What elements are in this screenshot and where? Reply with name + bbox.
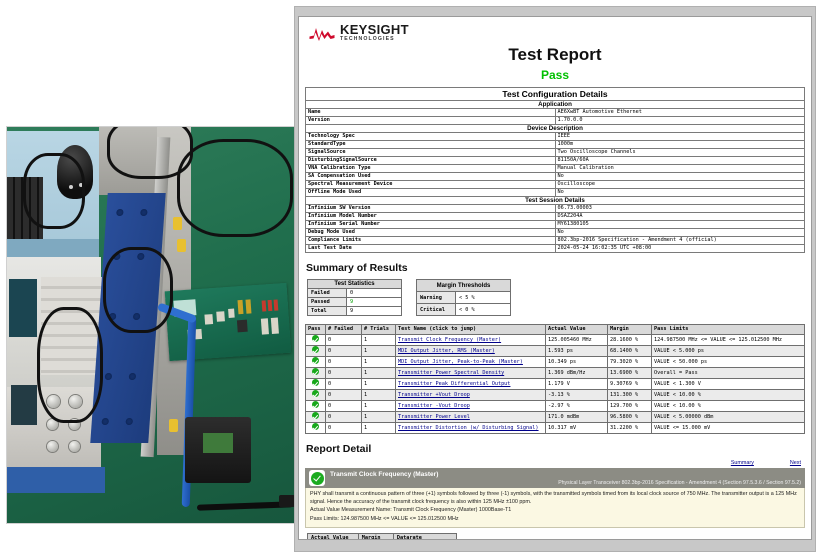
detail-spec-reference: Physical Layer Transceiver 802.3bp-2016 … — [330, 480, 801, 486]
table-row: 01Transmitter Distortion (w/ Disturbing … — [306, 423, 805, 434]
config-key: Name — [306, 109, 556, 117]
trials-count: 1 — [362, 368, 396, 379]
scope-knob-6 — [69, 441, 80, 452]
report-page: KEYSIGHT TECHNOLOGIES Test Report Pass T… — [298, 16, 812, 540]
margin-value: 68.1400 % — [608, 346, 652, 357]
detail-measurement-table: Actual ValueMarginDatarate125.005460 MHz… — [307, 533, 457, 540]
failed-count: 0 — [326, 379, 362, 390]
config-row: Technology SpecIEEE — [306, 133, 805, 141]
results-header-row: Pass# Failed# TrialsTest Name (click to … — [306, 325, 805, 335]
config-row: Infiniium SW Version06.73.00003 — [306, 205, 805, 213]
trials-count: 1 — [362, 412, 396, 423]
pass-icon — [306, 368, 326, 379]
results-column-header: Test Name (click to jump) — [396, 325, 546, 335]
trials-count: 1 — [362, 423, 396, 434]
table-row: 01Transmitter Peak Differential Output1.… — [306, 379, 805, 390]
config-key: SA Compensation Used — [306, 173, 556, 181]
table-row: 01Transmitter +Vout Droop-3.13 %131.300 … — [306, 390, 805, 401]
actual-value: 1.593 ps — [546, 346, 608, 357]
test-name-link[interactable]: Transmitter Power Level — [396, 412, 546, 423]
stats-tbody: Test Statistics Failed0Passed9Total9 — [308, 280, 402, 316]
pass-limits: VALUE < 50.000 ps — [652, 357, 805, 368]
threshold-label: Warning — [417, 292, 456, 304]
detail-test-name: Transmit Clock Frequency (Master) — [330, 471, 801, 478]
coax-cable-loop-4 — [103, 247, 173, 333]
config-value: 1.70.0.0 — [555, 117, 805, 125]
summary-heading: Summary of Results — [306, 262, 805, 274]
test-statistics-table: Test Statistics Failed0Passed9Total9 — [307, 279, 402, 316]
pass-limits: 124.987500 MHz <= VALUE <= 125.012500 MH… — [652, 335, 805, 346]
report-detail-heading: Report Detail — [306, 443, 805, 455]
config-value: IEEE — [555, 133, 805, 141]
keysight-logo: KEYSIGHT TECHNOLOGIES — [305, 17, 805, 42]
lab-bench-photo — [6, 126, 296, 524]
margin-value: 79.3020 % — [608, 357, 652, 368]
pass-limits: VALUE < 5.000 ps — [652, 346, 805, 357]
table-row: 01MDI Output Jitter, Peak-to-Peak (Maste… — [306, 357, 805, 368]
cable-connector — [279, 495, 295, 507]
results-column-header: # Failed — [326, 325, 362, 335]
config-section-row: Application — [306, 101, 805, 109]
pass-limits: VALUE < 10.00 % — [652, 401, 805, 412]
test-name-link[interactable]: Transmitter -Vout Droop — [396, 401, 546, 412]
actual-value: 1.369 dBm/Hz — [546, 368, 608, 379]
pass-limits: VALUE < 1.300 V — [652, 379, 805, 390]
stats-row: Total9 — [308, 307, 402, 316]
nav-summary-link[interactable]: Summary — [731, 460, 754, 466]
pass-limits: VALUE <= 15.000 mV — [652, 423, 805, 434]
config-key: Spectral Measurement Device — [306, 181, 556, 189]
detail-pass-icon — [309, 470, 325, 486]
screenshot-root: KEYSIGHT TECHNOLOGIES Test Report Pass T… — [0, 0, 820, 556]
oscilloscope-screen — [9, 279, 37, 337]
coax-cable-loop-3 — [177, 139, 293, 237]
oscilloscope-screen-lower — [11, 385, 37, 425]
table-row: 01Transmitter -Vout Droop-2.97 %129.700 … — [306, 401, 805, 412]
config-row: Version1.70.0.0 — [306, 117, 805, 125]
logo-subtitle: TECHNOLOGIES — [340, 37, 409, 42]
config-section-label: Test Session Details — [306, 197, 805, 205]
config-row: Infiniium Serial NumberMY61380105 — [306, 221, 805, 229]
config-key: Technology Spec — [306, 133, 556, 141]
report-window: KEYSIGHT TECHNOLOGIES Test Report Pass T… — [294, 6, 816, 552]
test-name-link[interactable]: Transmit Clock Frequency (Master) — [396, 335, 546, 346]
test-name-link[interactable]: MDI Output Jitter, RMS (Master) — [396, 346, 546, 357]
config-row: DisturbingSignalSource81150A/60A — [306, 157, 805, 165]
config-row: Offline Mode UsedNo — [306, 189, 805, 197]
threshold-label: Critical — [417, 304, 456, 316]
actual-value: 1.179 V — [546, 379, 608, 390]
config-row: VNA Calibration TypeManual Calibration — [306, 165, 805, 173]
config-key: DisturbingSignalSource — [306, 157, 556, 165]
test-name-link[interactable]: Transmitter Peak Differential Output — [396, 379, 546, 390]
actual-value: 10.317 mV — [546, 423, 608, 434]
detail-column-header: Datarate — [393, 534, 456, 540]
stats-label: Total — [308, 307, 347, 316]
config-value: 802.3bp-2016 Specification - Amendment 4… — [555, 237, 805, 245]
config-row: Infiniium Model NumberDSAZ204A — [306, 213, 805, 221]
config-row: Last Test Date2024-05-24 16:02:35 UTC +0… — [306, 245, 805, 253]
yellow-cable-tag-3 — [169, 419, 178, 432]
test-name-link[interactable]: Transmitter Power Spectral Density — [396, 368, 546, 379]
config-key: StandardType — [306, 141, 556, 149]
config-key: Compliance Limits — [306, 237, 556, 245]
trials-count: 1 — [362, 390, 396, 401]
detail-header-row: Actual ValueMarginDatarate — [308, 534, 457, 540]
threshold-row: Warning< 5 % — [417, 292, 511, 304]
margin-thresholds-table: Margin Thresholds Warning< 5 %Critical< … — [416, 279, 511, 316]
actual-value: 171.0 mdBm — [546, 412, 608, 423]
test-configuration-table: Test Configuration Details ApplicationNa… — [305, 87, 805, 253]
results-column-header: Pass Limits — [652, 325, 805, 335]
margin-value: 9.30769 % — [608, 379, 652, 390]
stats-row: Passed9 — [308, 298, 402, 307]
detail-description: PHY shall transmit a continuous pattern … — [310, 491, 800, 506]
config-key: Infiniium Serial Number — [306, 221, 556, 229]
pass-limits: Overall = Pass — [652, 368, 805, 379]
config-value: 06.73.00003 — [555, 205, 805, 213]
results-table: Pass# Failed# TrialsTest Name (click to … — [305, 324, 805, 434]
detail-measurement-name: Actual Value Measurement Name: Transmit … — [310, 507, 800, 515]
stats-label: Failed — [308, 289, 347, 298]
test-name-link[interactable]: Transmitter +Vout Droop — [396, 390, 546, 401]
trials-count: 1 — [362, 346, 396, 357]
config-tbody: Test Configuration Details ApplicationNa… — [306, 88, 805, 253]
pass-icon — [306, 412, 326, 423]
stats-row: Failed0 — [308, 289, 402, 298]
config-section-label: Application — [306, 101, 805, 109]
table-row: 01Transmit Clock Frequency (Master)125.0… — [306, 335, 805, 346]
results-tbody: 01Transmit Clock Frequency (Master)125.0… — [306, 335, 805, 434]
failed-count: 0 — [326, 412, 362, 423]
pass-icon — [306, 346, 326, 357]
config-key: Debug Mode Used — [306, 229, 556, 237]
thresholds-title: Margin Thresholds — [417, 280, 511, 292]
threshold-row: Critical< 0 % — [417, 304, 511, 316]
config-key: Offline Mode Used — [306, 189, 556, 197]
config-row: NameAE6XwBT Automotive Ethernet — [306, 109, 805, 117]
detail-header: Transmit Clock Frequency (Master) Physic… — [305, 468, 805, 488]
config-value: 2024-05-24 16:02:35 UTC +08:00 — [555, 245, 805, 253]
table-row: 01Transmitter Power Level171.0 mdBm96.58… — [306, 412, 805, 423]
actual-value: 10.349 ps — [546, 357, 608, 368]
table-row: 01MDI Output Jitter, RMS (Master)1.593 p… — [306, 346, 805, 357]
pass-icon — [306, 379, 326, 390]
failed-count: 0 — [326, 368, 362, 379]
detail-table-body: Actual ValueMarginDatarate125.005460 MHz… — [308, 534, 457, 540]
config-value: 1000m — [555, 141, 805, 149]
threshold-value: < 5 % — [456, 292, 511, 304]
failed-count: 0 — [326, 390, 362, 401]
results-column-header: Pass — [306, 325, 326, 335]
coax-cable-loop-5 — [37, 307, 103, 423]
detail-nav: Summary Next — [305, 460, 801, 466]
pass-icon — [306, 335, 326, 346]
config-key: VNA Calibration Type — [306, 165, 556, 173]
config-key: Infiniium Model Number — [306, 213, 556, 221]
device-under-test-pcb — [165, 283, 292, 361]
actual-value: -2.97 % — [546, 401, 608, 412]
detail-description-body: PHY shall transmit a continuous pattern … — [305, 488, 805, 528]
stats-value: 0 — [347, 289, 402, 298]
config-value: Manual Calibration — [555, 165, 805, 173]
table-row: 01Transmitter Power Spectral Density1.36… — [306, 368, 805, 379]
actual-value: 125.005460 MHz — [546, 335, 608, 346]
pass-limits: VALUE < 5.00000 dBm — [652, 412, 805, 423]
config-value: AE6XwBT Automotive Ethernet — [555, 109, 805, 117]
coax-cable-loop-1 — [23, 153, 85, 229]
config-value: Oscilloscope — [555, 181, 805, 189]
results-column-header: Margin — [608, 325, 652, 335]
pass-icon — [306, 357, 326, 368]
config-value: Two Oscilloscope Channels — [555, 149, 805, 157]
nav-next-link[interactable]: Next — [790, 460, 801, 466]
stats-title: Test Statistics — [308, 280, 402, 289]
config-row: StandardType1000m — [306, 141, 805, 149]
actual-value: -3.13 % — [546, 390, 608, 401]
logo-name: KEYSIGHT — [340, 23, 409, 36]
config-value: No — [555, 229, 805, 237]
margin-value: 13.6900 % — [608, 368, 652, 379]
config-key: SignalSource — [306, 149, 556, 157]
config-value: 81150A/60A — [555, 157, 805, 165]
config-value: MY61380105 — [555, 221, 805, 229]
converter-label — [203, 433, 233, 453]
results-column-header: # Trials — [362, 325, 396, 335]
results-thead: Pass# Failed# TrialsTest Name (click to … — [306, 325, 805, 335]
config-row: Debug Mode UsedNo — [306, 229, 805, 237]
config-row: Compliance Limits802.3bp-2016 Specificat… — [306, 237, 805, 245]
detail-column-header: Actual Value — [308, 534, 359, 540]
yellow-cable-tag-1 — [173, 217, 182, 230]
stats-value: 9 — [347, 307, 402, 316]
pass-icon — [306, 390, 326, 401]
config-section-row: Test Session Details — [306, 197, 805, 205]
config-section-label: Device Description — [306, 125, 805, 133]
test-name-link[interactable]: MDI Output Jitter, Peak-to-Peak (Master) — [396, 357, 546, 368]
rack-rail — [6, 467, 105, 493]
stats-label: Passed — [308, 298, 347, 307]
config-key: Infiniium SW Version — [306, 205, 556, 213]
config-row: SA Compensation UsedNo — [306, 173, 805, 181]
trials-count: 1 — [362, 357, 396, 368]
trials-count: 1 — [362, 401, 396, 412]
detail-pass-limits: Pass Limits: 124.987500 MHz <= VALUE <= … — [310, 516, 800, 524]
thresholds-tbody: Margin Thresholds Warning< 5 %Critical< … — [417, 280, 511, 316]
failed-count: 0 — [326, 346, 362, 357]
overall-verdict: Pass — [305, 68, 805, 82]
results-column-header: Actual Value — [546, 325, 608, 335]
pass-limits: VALUE < 10.00 % — [652, 390, 805, 401]
config-value: DSAZ204A — [555, 213, 805, 221]
failed-count: 0 — [326, 401, 362, 412]
margin-value: 96.5800 % — [608, 412, 652, 423]
config-heading: Test Configuration Details — [306, 88, 805, 101]
trials-count: 1 — [362, 379, 396, 390]
failed-count: 0 — [326, 423, 362, 434]
page-title: Test Report — [305, 45, 805, 65]
config-row: SignalSourceTwo Oscilloscope Channels — [306, 149, 805, 157]
pass-icon — [306, 401, 326, 412]
trials-count: 1 — [362, 335, 396, 346]
failed-count: 0 — [326, 335, 362, 346]
config-section-row: Device Description — [306, 125, 805, 133]
config-value: No — [555, 189, 805, 197]
yellow-cable-tag-2 — [177, 239, 186, 252]
margin-value: 131.300 % — [608, 390, 652, 401]
margin-value: 129.700 % — [608, 401, 652, 412]
keysight-wave-icon — [309, 25, 335, 42]
test-name-link[interactable]: Transmitter Distortion (w/ Disturbing Si… — [396, 423, 546, 434]
config-row: Spectral Measurement DeviceOscilloscope — [306, 181, 805, 189]
config-value: No — [555, 173, 805, 181]
threshold-value: < 0 % — [456, 304, 511, 316]
config-key: Last Test Date — [306, 245, 556, 253]
detail-column-header: Margin — [358, 534, 393, 540]
pass-icon — [306, 423, 326, 434]
scope-knob-5 — [47, 441, 58, 452]
config-key: Version — [306, 117, 556, 125]
margin-value: 28.1600 % — [608, 335, 652, 346]
stats-value: 9 — [347, 298, 402, 307]
failed-count: 0 — [326, 357, 362, 368]
margin-value: 31.2200 % — [608, 423, 652, 434]
